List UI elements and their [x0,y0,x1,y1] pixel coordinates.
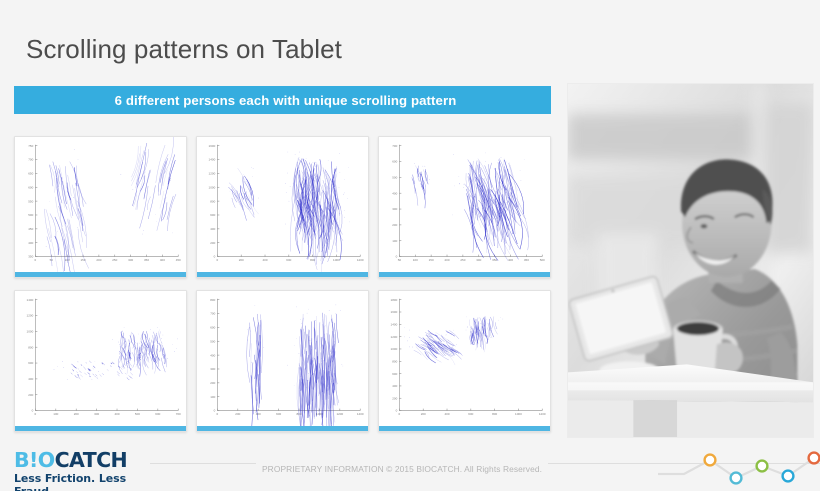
svg-text:250: 250 [112,258,117,262]
svg-text:600: 600 [286,258,291,262]
svg-text:300: 300 [94,412,99,416]
svg-text:550: 550 [28,199,33,203]
svg-text:400: 400 [444,412,449,416]
svg-text:1800: 1800 [391,298,398,302]
svg-text:600: 600 [28,185,33,189]
svg-text:300: 300 [476,258,481,262]
svg-text:300: 300 [128,258,133,262]
svg-text:1000: 1000 [333,258,340,262]
svg-text:500: 500 [392,176,397,180]
card-accent-bar [379,426,550,431]
svg-text:600: 600 [155,412,160,416]
svg-text:200: 200 [74,412,79,416]
subtitle-banner-label: 6 different persons each with unique scr… [109,93,457,108]
svg-text:1200: 1200 [539,412,546,416]
svg-text:450: 450 [524,258,529,262]
chart-card-person-3[interactable]: 0100200300400500600700501001502002503003… [378,136,551,278]
svg-text:450: 450 [176,258,181,262]
svg-text:0: 0 [217,412,219,416]
logo-bio-text: B!O [14,448,55,472]
svg-text:0: 0 [35,412,37,416]
svg-text:200: 200 [96,258,101,262]
node-dot-teal [731,473,742,484]
svg-text:400: 400 [210,227,215,231]
chart-card-person-4[interactable]: 0200400600800100012001400010020030040050… [14,290,187,432]
svg-text:300: 300 [210,367,215,371]
svg-text:0: 0 [217,258,219,262]
svg-text:150: 150 [429,258,434,262]
svg-text:600: 600 [468,412,473,416]
svg-text:600: 600 [276,412,281,416]
svg-text:700: 700 [210,312,215,316]
svg-text:100: 100 [210,395,215,399]
node-dot-blue [783,471,794,482]
svg-text:200: 200 [392,396,397,400]
scatter-plot-person-5: 0100200300400500600700800020040060080010… [197,291,368,426]
svg-text:700: 700 [176,412,181,416]
svg-text:1200: 1200 [209,172,216,176]
svg-text:200: 200 [210,381,215,385]
logo-wordmark: B!OCATCH [14,450,149,470]
svg-text:200: 200 [28,393,33,397]
svg-text:400: 400 [114,412,119,416]
svg-text:0: 0 [214,255,216,259]
svg-text:100: 100 [413,258,418,262]
svg-text:200: 200 [444,258,449,262]
slide-canvas: Scrolling patterns on Tablet 6 different… [0,0,820,491]
svg-text:1000: 1000 [515,412,522,416]
svg-text:300: 300 [392,207,397,211]
svg-text:250: 250 [460,258,465,262]
logo-tagline: Less Friction. Less Fraud. [14,472,149,491]
svg-text:800: 800 [210,298,215,302]
svg-text:1400: 1400 [209,158,216,162]
svg-text:1600: 1600 [209,144,216,148]
svg-text:500: 500 [28,213,33,217]
svg-text:500: 500 [540,258,545,262]
chart-card-person-6[interactable]: 0200400600800100012001400160018000200400… [378,290,551,432]
svg-text:0: 0 [396,409,398,413]
node-dot-orange [705,455,716,466]
scatter-plot-person-6: 0200400600800100012001400160018000200400… [379,291,550,426]
svg-text:200: 200 [239,258,244,262]
hero-photo [567,83,814,438]
scatter-plot-person-2: 0200400600800100012001400160002004006008… [197,137,368,272]
svg-text:1000: 1000 [209,185,216,189]
svg-text:500: 500 [210,339,215,343]
svg-text:400: 400 [508,258,513,262]
svg-text:50: 50 [398,258,402,262]
svg-text:1200: 1200 [336,412,343,416]
svg-text:400: 400 [256,412,261,416]
svg-text:200: 200 [235,412,240,416]
scatter-plot-person-3: 0100200300400500600700501001502002503003… [379,137,550,272]
svg-text:100: 100 [392,239,397,243]
copyright-notice: PROPRIETARY INFORMATION © 2015 BIOCATCH.… [256,462,548,476]
svg-text:1400: 1400 [27,298,34,302]
svg-text:0: 0 [32,409,34,413]
svg-text:1400: 1400 [357,412,364,416]
svg-text:600: 600 [210,213,215,217]
svg-text:1000: 1000 [27,330,34,334]
svg-text:1400: 1400 [391,322,398,326]
svg-text:100: 100 [53,412,58,416]
svg-text:400: 400 [28,377,33,381]
svg-text:400: 400 [392,384,397,388]
svg-text:400: 400 [210,353,215,357]
svg-text:750: 750 [28,144,33,148]
svg-text:200: 200 [210,241,215,245]
svg-text:1200: 1200 [391,335,398,339]
svg-text:700: 700 [28,158,33,162]
svg-text:500: 500 [135,412,140,416]
card-accent-bar [197,272,368,277]
svg-text:400: 400 [160,258,165,262]
svg-text:200: 200 [392,223,397,227]
svg-text:1600: 1600 [391,310,398,314]
photo-illustration [568,84,813,437]
svg-text:600: 600 [28,361,33,365]
svg-text:450: 450 [28,227,33,231]
svg-text:150: 150 [80,258,85,262]
svg-text:600: 600 [392,160,397,164]
svg-text:1200: 1200 [357,258,364,262]
logo-catch-text: CATCH [55,448,128,472]
svg-text:400: 400 [262,258,267,262]
svg-text:400: 400 [28,241,33,245]
svg-text:0: 0 [214,409,216,413]
card-accent-bar [379,272,550,277]
svg-text:650: 650 [28,172,33,176]
svg-text:400: 400 [392,191,397,195]
biocatch-logo: B!OCATCH Less Friction. Less Fraud. [14,450,149,491]
svg-text:350: 350 [144,258,149,262]
svg-text:700: 700 [392,144,397,148]
card-accent-bar [15,272,186,277]
svg-text:800: 800 [492,412,497,416]
chart-card-person-2[interactable]: 0200400600800100012001400160002004006008… [196,136,369,278]
chart-card-person-5[interactable]: 0100200300400500600700800020040060080010… [196,290,369,432]
svg-text:600: 600 [210,326,215,330]
svg-text:200: 200 [421,412,426,416]
svg-text:1000: 1000 [391,347,398,351]
page-title: Scrolling patterns on Tablet [26,34,342,65]
scatter-plot-person-4: 0200400600800100012001400010020030040050… [15,291,186,426]
svg-text:0: 0 [399,412,401,416]
svg-text:1200: 1200 [27,314,34,318]
svg-text:800: 800 [392,359,397,363]
chart-card-person-1[interactable]: 3504004505005506006507007500501001502002… [14,136,187,278]
node-dot-green [757,461,768,472]
chart-grid: 3504004505005506006507007500501001502002… [14,136,551,432]
svg-text:800: 800 [210,199,215,203]
card-accent-bar [15,426,186,431]
svg-text:350: 350 [28,255,33,259]
svg-text:0: 0 [35,258,37,262]
svg-text:600: 600 [392,372,397,376]
scatter-plot-person-1: 3504004505005506006507007500501001502002… [15,137,186,272]
node-dot-red [809,453,820,464]
decorative-node-line [658,448,820,488]
subtitle-banner: 6 different persons each with unique scr… [14,86,551,114]
card-accent-bar [197,426,368,431]
svg-text:800: 800 [28,345,33,349]
